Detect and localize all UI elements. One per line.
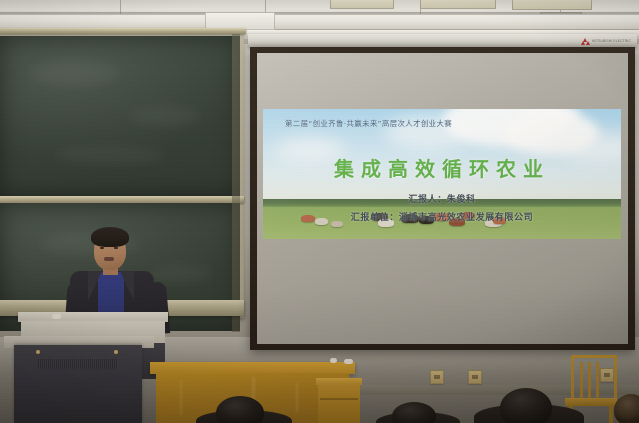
microphone-base [52,314,61,319]
wall-power-outlet [430,370,444,384]
speaker-screw [36,350,40,354]
projector-brand-label: MITSUBISHI ELECTRIC [592,39,631,43]
audience-head [216,396,264,423]
chair-leg [609,405,613,423]
presenter-mouth [104,257,114,261]
blackboard-top-rail [0,28,246,34]
audience-head [614,394,639,423]
side-lectern [318,378,360,423]
chair-slat [588,362,591,398]
blackboard-upper [0,36,240,196]
slide-header-text: 第二届“创业齐鲁·共赢未来”高层次人才创业大赛 [285,118,452,129]
wall-mounted-speaker [14,345,142,423]
audience-head [500,388,552,423]
desk-item [344,359,353,364]
side-lectern-top [316,378,362,385]
slide-presenter-line: 汇报人：朱俊科 [263,192,621,205]
blackboard-middle-rail [0,196,244,203]
speaker-grille [38,359,118,369]
ceiling-light-fixture [512,0,592,10]
lecture-hall-photo: MITSUBISHI ELECTRIC [0,0,639,423]
presenter-eye-right [114,247,118,249]
desk-item [330,358,337,363]
slide-main-title: 集成高效循环农业 [263,153,621,182]
presenter-eye-left [100,247,104,249]
projected-slide: 第二届“创业齐鲁·共赢未来”高层次人才创业大赛 集成高效循环农业 汇报人：朱俊科… [263,109,621,239]
ceiling-light-fixture [420,0,496,9]
projection-screen-top-rail: MITSUBISHI ELECTRIC [248,34,637,48]
audience-head [392,402,436,423]
ceiling-light-fixture [330,0,394,9]
speaker-screw [114,350,118,354]
presenter-lapel-right [120,271,134,301]
chair-backrest [571,355,617,402]
slide-organization-line: 汇报单位：淄博市高光效农业发展有限公司 [263,210,621,223]
wall-power-outlet [468,370,482,384]
presenter-lapel-left [88,271,102,301]
projection-screen-frame: 第二届“创业齐鲁·共赢未来”高层次人才创业大赛 集成高效循环农业 汇报人：朱俊科… [250,47,635,350]
side-lectern-edge [320,398,358,400]
projection-screen-surface: 第二届“创业齐鲁·共赢未来”高层次人才创业大赛 集成高效循环农业 汇报人：朱俊科… [257,53,628,344]
presenter-hair [91,227,129,247]
projection-screen-assembly: MITSUBISHI ELECTRIC [248,34,637,354]
mitsubishi-diamond-icon [582,38,590,45]
chair-slat [596,362,599,398]
chair-slat [580,362,583,398]
mitsubishi-logo: MITSUBISHI ELECTRIC [582,37,631,45]
